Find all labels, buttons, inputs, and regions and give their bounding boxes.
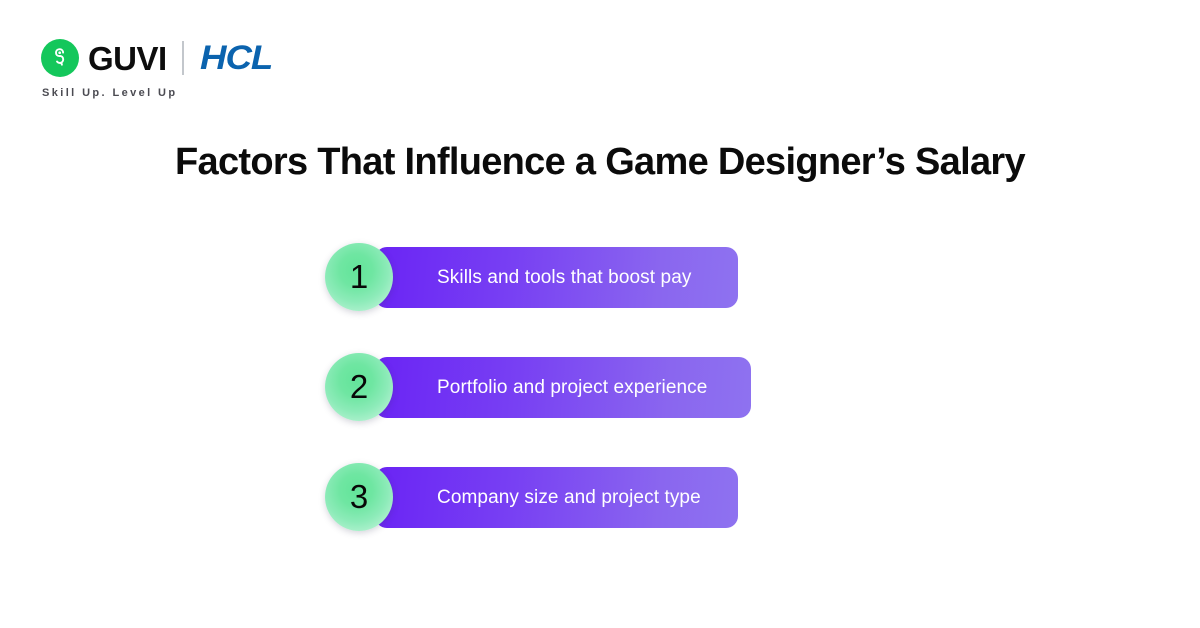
brand-row: GUVI HCL: [41, 36, 267, 80]
brand-tagline: Skill Up. Level Up: [42, 87, 178, 99]
factor-bar: Skills and tools that boost pay: [375, 247, 738, 308]
hcl-wordmark: HCL: [200, 41, 272, 75]
brand-lockup: GUVI HCL Skill Up. Level Up: [41, 36, 267, 99]
brand-divider: [182, 41, 184, 75]
factor-number: 2: [350, 370, 368, 403]
guvi-wordmark: GUVI: [88, 42, 167, 75]
factor-label: Skills and tools that boost pay: [437, 267, 691, 289]
page-title: Factors That Influence a Game Designer’s…: [0, 139, 1200, 185]
factor-bar: Portfolio and project experience: [375, 357, 751, 418]
factor-number: 1: [350, 260, 368, 293]
factor-label: Company size and project type: [437, 487, 701, 509]
factor-label: Portfolio and project experience: [437, 377, 707, 399]
factor-number-badge: 3: [325, 463, 393, 531]
guvi-g-mark-icon: [41, 39, 79, 77]
factor-number-badge: 1: [325, 243, 393, 311]
infographic-canvas: { "brand": { "logo_icon": "guvi-g-mark-i…: [0, 0, 1200, 628]
factor-bar: Company size and project type: [375, 467, 738, 528]
factor-number: 3: [350, 480, 368, 513]
factor-number-badge: 2: [325, 353, 393, 421]
